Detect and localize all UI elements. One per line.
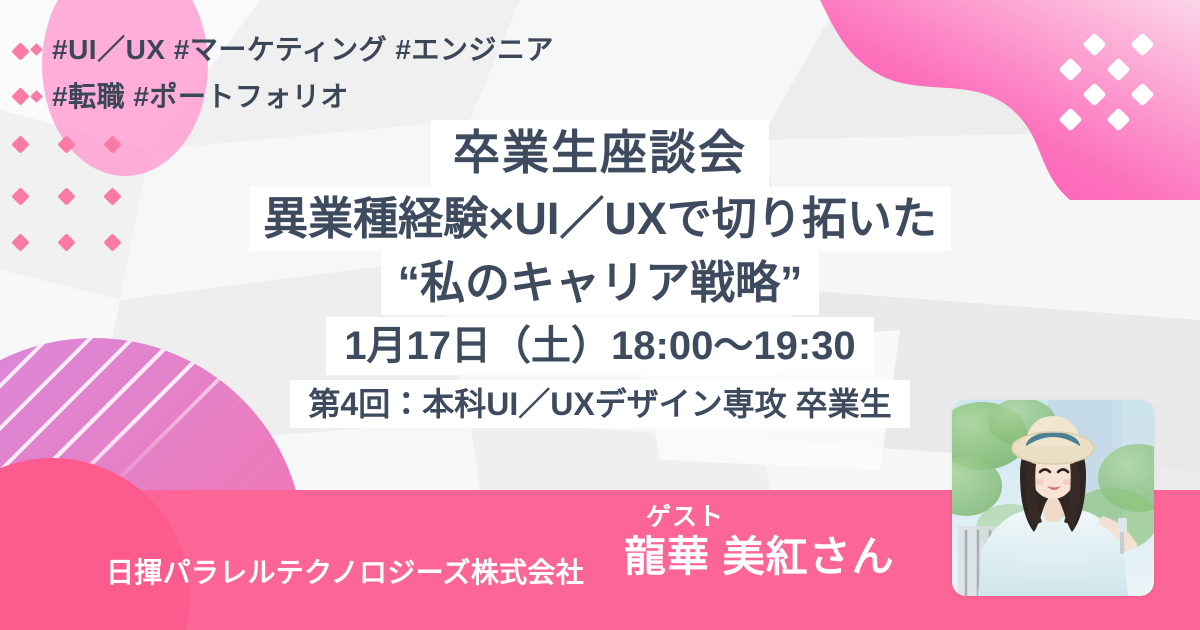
guest-portrait-photo <box>952 400 1154 596</box>
hashtag-line: #UI／UX #マーケティング #エンジニア <box>32 26 554 73</box>
page-title: 卒業生座談会 <box>431 120 769 187</box>
hashtag-line: #転職 #ポートフォリオ <box>32 73 554 120</box>
poster-canvas: #UI／UX #マーケティング #エンジニア #転職 #ポートフォリオ 卒業生座… <box>0 0 1200 630</box>
diamond-bullet-icon <box>30 43 43 56</box>
title-block: 卒業生座談会 異業種経験×UI／UXで切り拓いた “私のキャリア戦略” 1月17… <box>0 120 1200 428</box>
guest-name: 龍華 美紅さん <box>624 531 895 584</box>
hashtag-text: #転職 #ポートフォリオ <box>52 73 349 120</box>
title-subline-1: 異業種経験×UI／UXで切り拓いた <box>249 187 951 251</box>
guest-label: ゲスト <box>624 503 895 531</box>
hashtag-list: #UI／UX #マーケティング #エンジニア #転職 #ポートフォリオ <box>32 26 554 120</box>
hashtag-text: #UI／UX #マーケティング #エンジニア <box>52 26 554 73</box>
guest-info: ゲスト 龍華 美紅さん <box>624 503 895 584</box>
session-label: 第4回：本科UI／UXデザイン専攻 卒業生 <box>290 380 909 429</box>
diamond-bullet-icon <box>30 90 43 103</box>
title-subline-2: “私のキャリア戦略” <box>381 251 818 315</box>
event-datetime: 1月17日（土）18:00〜19:30 <box>326 317 873 375</box>
company-name: 日揮パラレルテクノロジーズ株式会社 <box>106 551 584 591</box>
